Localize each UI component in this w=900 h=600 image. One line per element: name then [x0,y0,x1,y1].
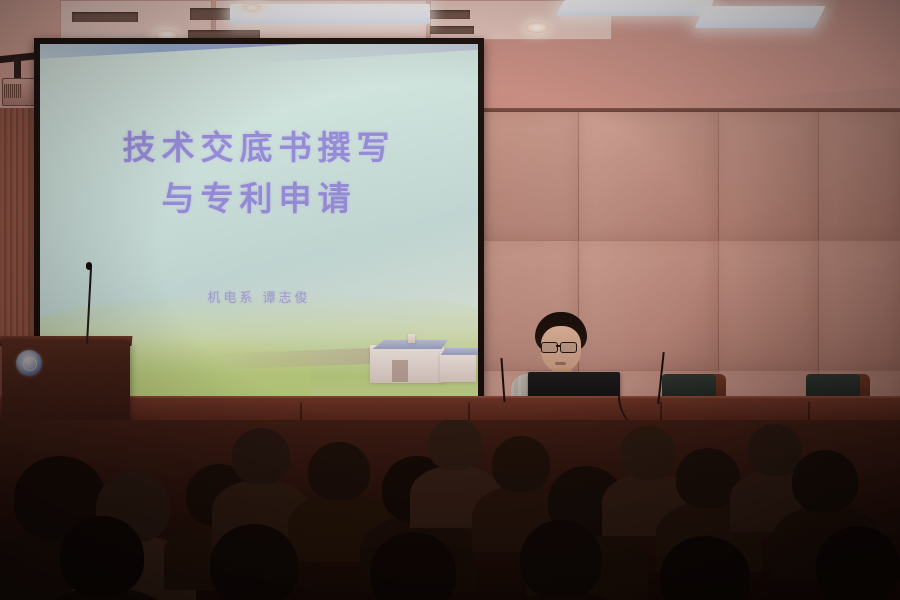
slide-title-line2: 与专利申请 [40,173,478,224]
audience-head [792,450,858,512]
acoustic-wall-panel [578,112,719,241]
ceiling-air-vent [188,30,260,38]
farmhouse-door [392,360,408,382]
slide-subtitle: 机电系 谭志俊 [40,287,478,306]
slide-accent-band-secondary [240,44,478,64]
presenter-mouth [555,362,566,365]
glasses-right-lens [560,342,577,353]
acoustic-wall-panel [718,112,819,241]
ceiling-air-vent [430,10,470,19]
audience-head [492,436,550,492]
audience-head [816,526,900,600]
ceiling-light-panel [556,0,715,16]
audience-head [520,520,602,598]
recessed-downlight [525,22,549,33]
audience [0,420,900,600]
audience-head [308,442,370,500]
podium-microphone-head [86,262,92,270]
ceiling-light-panel [694,6,826,28]
ceiling-air-vent [72,12,138,22]
glasses-left-lens [541,342,558,353]
audience-head [620,426,676,480]
lecture-hall-photo: 技术交底书撰写 与专利申请 机电系 谭志俊 职业技术学院 [0,0,900,600]
slide-title-line1: 技术交底书撰写 [123,128,396,167]
school-crest-icon [16,350,42,376]
acoustic-wall-panel [718,240,819,371]
glasses-bridge [556,345,561,347]
audience-head [232,428,290,484]
speaker-grill [4,84,22,98]
audience-head [60,516,144,596]
recessed-downlight [240,2,264,13]
acoustic-wall-panel [818,240,900,371]
farmhouse-chimney [408,334,415,343]
acoustic-wall-panel [470,112,579,241]
audience-head [210,524,298,600]
slide-title: 技术交底书撰写 与专利申请 [40,122,478,224]
farmhouse-wing [440,352,476,382]
acoustic-wall-panel [818,112,900,241]
ceiling-air-vent [430,26,474,34]
audience-head [428,420,482,470]
